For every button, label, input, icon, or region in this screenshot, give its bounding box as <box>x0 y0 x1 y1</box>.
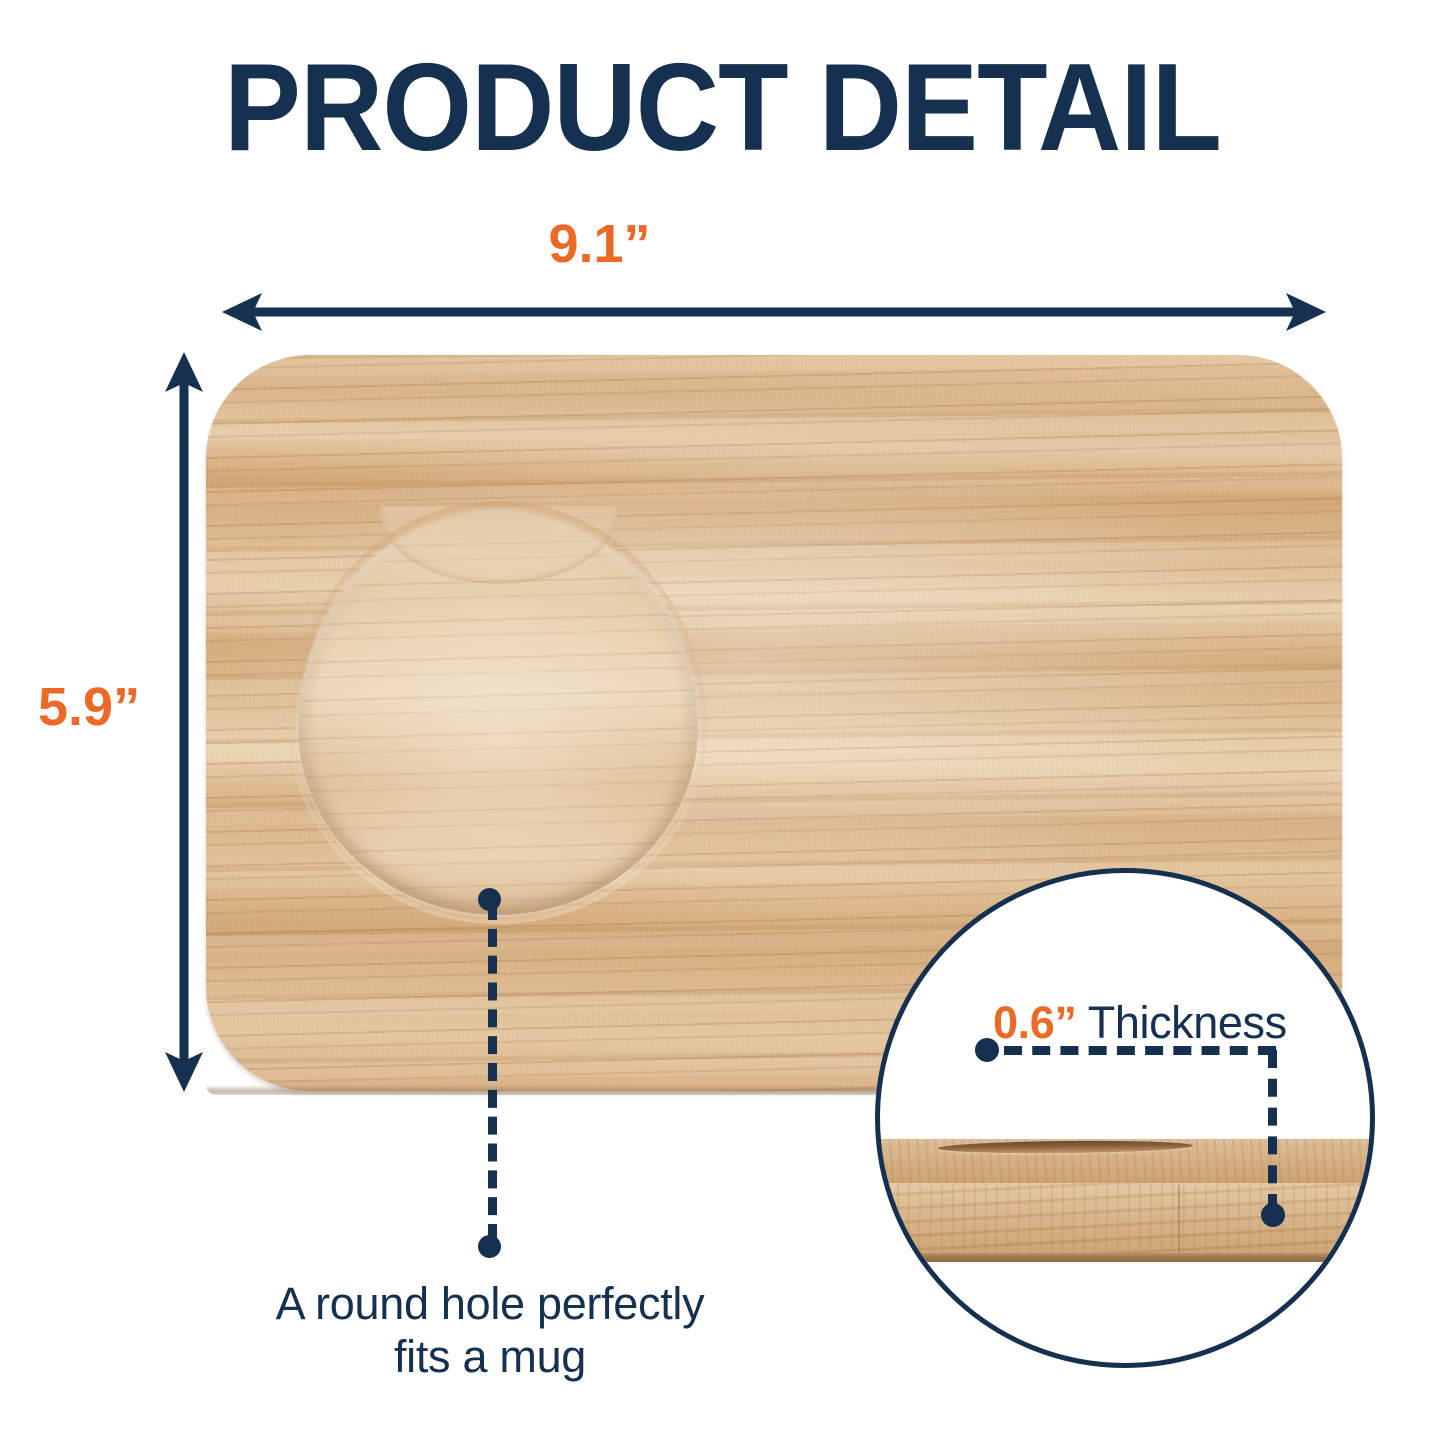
inset-clip <box>880 873 1370 1363</box>
hole-caption-line-1: A round hole perfectly <box>190 1277 790 1330</box>
mug-hole-top-notch <box>380 506 618 584</box>
hole-caption-line-2: fits a mug <box>190 1330 790 1383</box>
board-bottom-face <box>880 1253 1370 1262</box>
infographic-canvas: PRODUCT DETAIL 9.1” 5.9” A round hole pe… <box>0 0 1445 1445</box>
board-side-face <box>880 1183 1370 1255</box>
board-face-seam <box>1178 1185 1180 1255</box>
thickness-dot-bottom <box>1261 1203 1285 1227</box>
hole-callout-dot-top <box>478 888 501 911</box>
thickness-dashed-line-vertical <box>1268 1050 1277 1212</box>
board-side-view <box>880 1139 1370 1262</box>
thickness-value: 0.6” <box>993 997 1076 1048</box>
thickness-word: Thickness <box>1076 997 1286 1048</box>
double-arrow-horizontal-icon <box>222 293 1326 331</box>
thickness-label: 0.6” Thickness <box>993 1000 1287 1045</box>
thickness-dashed-line-horizontal <box>1004 1046 1276 1055</box>
thickness-dot-left <box>975 1038 999 1062</box>
hole-callout-dashed-line <box>488 902 497 1242</box>
height-dimension-label: 5.9” <box>38 676 140 738</box>
mug-hole-recess <box>298 510 698 915</box>
hole-callout-dot-bottom <box>478 1235 501 1258</box>
hole-caption: A round hole perfectly fits a mug <box>190 1277 790 1383</box>
double-arrow-vertical-icon <box>165 352 203 1092</box>
thickness-detail-inset <box>875 868 1375 1368</box>
width-dimension-label: 9.1” <box>0 213 1322 275</box>
page-title: PRODUCT DETAIL <box>51 46 1395 170</box>
